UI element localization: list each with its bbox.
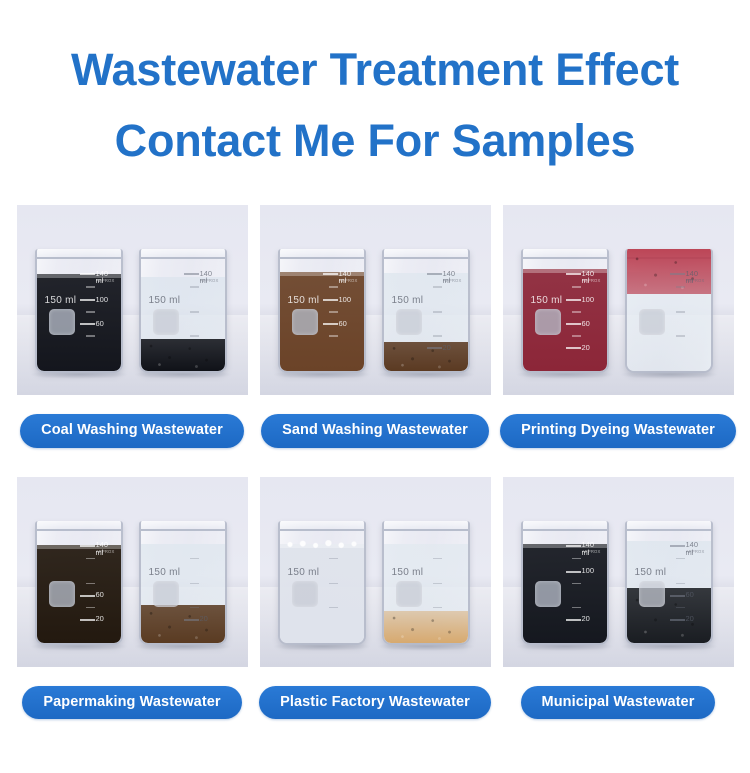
beaker-label-patch [639,581,665,607]
beaker-label-patch [49,581,75,607]
surface-foam [282,540,362,549]
sample-photo-sand-washing: 140 mlAPPROX10060150 ml140 mlAPPROX20150… [260,205,491,395]
beaker-before: 140 mlAPPROX10020 [521,521,609,645]
sample-label-button-municipal[interactable]: Municipal Wastewater [521,686,716,720]
beaker-glass: 140 mlAPPROX10060150 ml [35,249,123,373]
sample-card-municipal: 140 mlAPPROX10020140 mlAPPROX6020150 mlM… [503,477,734,720]
beaker-rim [35,521,123,531]
sample-photo-plastic-factory: 150 ml150 ml [260,477,491,667]
sample-card-plastic-factory: 150 ml150 mlPlastic Factory Wastewater [260,477,491,720]
beaker-glass: 150 ml [278,521,366,645]
beaker-label-patch [153,581,179,607]
sample-label-row: Plastic Factory Wastewater [260,686,491,720]
sample-label-button-papermaking[interactable]: Papermaking Wastewater [22,686,241,720]
settled-sediment-layer [141,605,225,643]
sample-photo-printing-dyeing: 140 mlAPPROX1006020150 ml140 mlAPPROX [503,205,734,395]
beaker-glass: 140 mlAPPROX6020150 ml [625,521,713,645]
sample-photo-papermaking: 140 mlAPPROX602020150 ml [17,477,248,667]
sample-label-row: Papermaking Wastewater [17,686,248,720]
floating-floc-layer [627,249,711,294]
beaker-rim [625,521,713,531]
beaker-glass: 140 mlAPPROX1006020150 ml [521,249,609,373]
page-title-line-1: Wastewater Treatment Effect [0,34,750,105]
beaker-rim [382,521,470,531]
sample-label-button-printing-dyeing[interactable]: Printing Dyeing Wastewater [500,414,736,448]
page-header: Wastewater Treatment Effect Contact Me F… [0,0,750,176]
sediment-texture [384,342,468,371]
beaker-rim [35,249,123,259]
sample-label-row: Printing Dyeing Wastewater [503,414,734,448]
wastewater-sample-grid: 140 mlAPPROX10060150 ml140 mlAPPROX150 m… [0,205,750,719]
beaker-label-patch [292,309,318,335]
beaker-glass: 140 mlAPPROX20150 ml [382,249,470,373]
beaker-after: 140 mlAPPROX150 ml [139,249,227,373]
beaker-glass: 20150 ml [139,521,227,645]
beaker-label-patch [396,309,422,335]
page-title-line-2: Contact Me For Samples [0,105,750,176]
beaker-rim [278,521,366,531]
beaker-label-patch [639,309,665,335]
beaker-rim [139,249,227,259]
beaker-label-patch [49,309,75,335]
sample-label-button-coal-washing[interactable]: Coal Washing Wastewater [20,414,244,448]
beaker-before: 140 mlAPPROX1006020150 ml [521,249,609,373]
beaker-before: 150 ml [278,521,366,645]
beaker-before: 140 mlAPPROX10060150 ml [35,249,123,373]
beaker-label-patch [153,309,179,335]
beaker-label-patch [292,581,318,607]
sample-card-sand-washing: 140 mlAPPROX10060150 ml140 mlAPPROX20150… [260,205,491,448]
sample-card-coal-washing: 140 mlAPPROX10060150 ml140 mlAPPROX150 m… [17,205,248,448]
beaker-rim [521,249,609,259]
settled-sediment-layer [141,339,225,371]
beaker-rim [278,249,366,259]
beaker-after: 140 mlAPPROX20150 ml [382,249,470,373]
sample-label-button-plastic-factory[interactable]: Plastic Factory Wastewater [259,686,491,720]
beaker-after: 140 mlAPPROX6020150 ml [625,521,713,645]
sample-label-button-sand-washing[interactable]: Sand Washing Wastewater [261,414,489,448]
sediment-texture [141,605,225,643]
graduation-tick [184,273,199,275]
sample-card-papermaking: 140 mlAPPROX602020150 mlPapermaking Wast… [17,477,248,720]
sample-card-printing-dyeing: 140 mlAPPROX1006020150 ml140 mlAPPROXPri… [503,205,734,448]
floc-texture [627,249,711,294]
sample-photo-municipal: 140 mlAPPROX10020140 mlAPPROX6020150 ml [503,477,734,667]
sample-label-row: Sand Washing Wastewater [260,414,491,448]
beaker-glass: 150 ml [382,521,470,645]
beaker-before: 140 mlAPPROX10060150 ml [278,249,366,373]
beaker-glass: 140 mlAPPROX6020 [35,521,123,645]
sample-label-row: Municipal Wastewater [503,686,734,720]
beaker-glass: 140 mlAPPROX10060150 ml [278,249,366,373]
settled-sediment-layer [384,342,468,371]
sediment-texture [141,339,225,371]
beaker-after: 140 mlAPPROX [625,249,713,373]
beaker-glass: 140 mlAPPROX150 ml [139,249,227,373]
beaker-glass: 140 mlAPPROX [625,249,713,373]
beaker-label-patch [535,309,561,335]
sample-label-row: Coal Washing Wastewater [17,414,248,448]
beaker-after: 20150 ml [139,521,227,645]
beaker-glass: 140 mlAPPROX10020 [521,521,609,645]
beaker-before: 140 mlAPPROX6020 [35,521,123,645]
beaker-rim [139,521,227,531]
sample-photo-coal-washing: 140 mlAPPROX10060150 ml140 mlAPPROX150 m… [17,205,248,395]
beaker-rim [382,249,470,259]
beaker-label-patch [396,581,422,607]
floc-texture [384,611,468,643]
beaker-after: 150 ml [382,521,470,645]
beaker-rim [521,521,609,531]
settled-floc-layer [384,611,468,643]
beaker-label-patch [535,581,561,607]
page-title: Wastewater Treatment Effect Contact Me F… [0,34,750,176]
